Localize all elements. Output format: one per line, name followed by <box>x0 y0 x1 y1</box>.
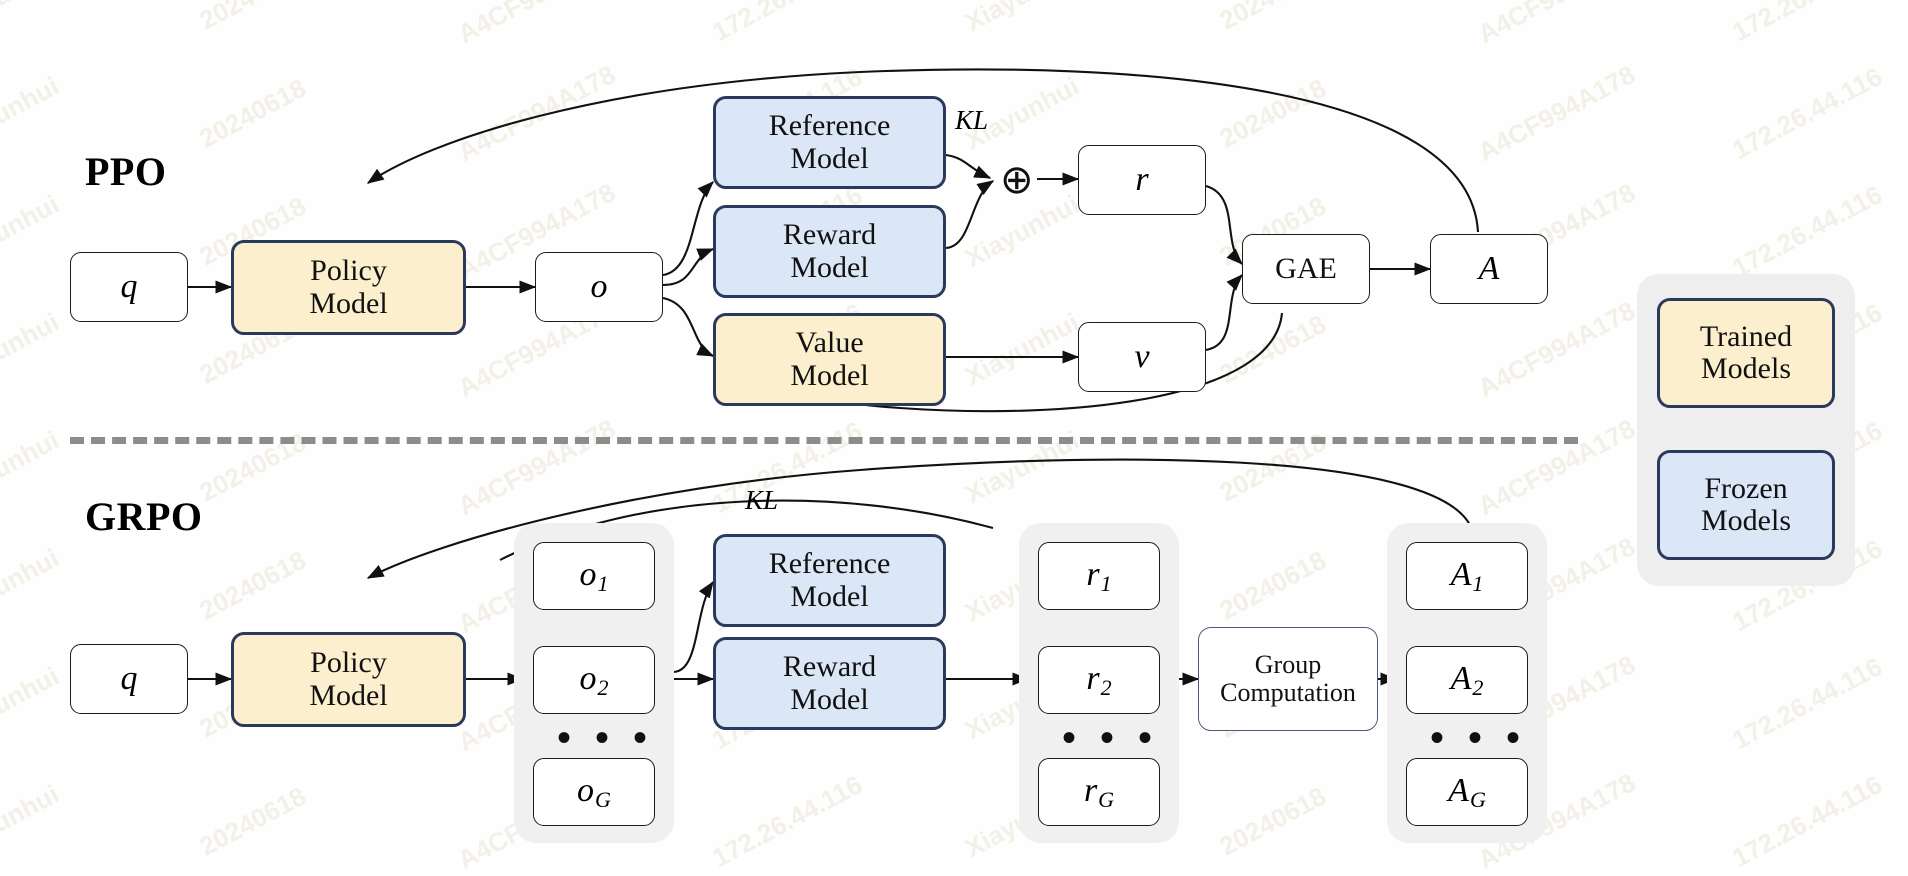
grpo-query-box[interactable]: q <box>70 644 188 714</box>
ppo-reference-model-line1: Reference <box>769 110 891 142</box>
grpo-reference-model-box[interactable]: Reference Model <box>713 534 946 627</box>
grpo-outputs-ellipsis: • • • <box>557 718 654 758</box>
legend-trained-line2: Models <box>1701 353 1791 385</box>
ppo-value-model-line2: Model <box>790 360 868 392</box>
ppo-reward-model-box[interactable]: Reward Model <box>713 205 946 298</box>
grpo-advantage-box-g[interactable]: AG <box>1406 758 1528 826</box>
grpo-reward-box-1[interactable]: r1 <box>1038 542 1160 610</box>
grpo-policy-model-line2: Model <box>309 680 387 712</box>
ppo-gae-label: GAE <box>1275 253 1337 285</box>
ppo-output-label: o <box>591 269 608 306</box>
section-title-ppo: PPO <box>85 148 166 195</box>
grpo-group-computation-line2: Computation <box>1220 679 1356 707</box>
section-divider <box>70 437 1578 444</box>
grpo-advantages-ellipsis: • • • <box>1430 718 1527 758</box>
grpo-reference-model-line1: Reference <box>769 548 891 580</box>
ppo-policy-model-line1: Policy <box>310 255 387 287</box>
grpo-advantage-box-2[interactable]: A2 <box>1406 646 1528 714</box>
ppo-advantage-label: A <box>1479 251 1500 288</box>
grpo-advantage-label-g: AG <box>1448 773 1486 812</box>
grpo-group-computation-line1: Group <box>1255 651 1321 679</box>
legend-frozen-models-swatch: Frozen Models <box>1657 450 1835 560</box>
ppo-reward-value-box[interactable]: r <box>1078 145 1206 215</box>
grpo-reference-model-line2: Model <box>790 581 868 613</box>
grpo-rewards-ellipsis: • • • <box>1062 718 1159 758</box>
grpo-reward-label-g: rG <box>1084 773 1114 812</box>
arrow-ppo-o-to-reward <box>663 249 713 285</box>
ppo-value-var-label: v <box>1134 339 1149 376</box>
ppo-policy-model-box[interactable]: Policy Model <box>231 240 466 335</box>
grpo-policy-model-line1: Policy <box>310 647 387 679</box>
arrow-ppo-o-to-value <box>663 298 713 356</box>
grpo-output-label-g: oG <box>577 773 611 812</box>
ppo-advantage-box[interactable]: A <box>1430 234 1548 304</box>
grpo-reward-box-g[interactable]: rG <box>1038 758 1160 826</box>
grpo-output-box-1[interactable]: o1 <box>533 542 655 610</box>
grpo-reward-model-line1: Reward <box>783 651 876 683</box>
grpo-reward-label-1: r1 <box>1086 557 1111 596</box>
grpo-kl-label: KL <box>745 485 778 516</box>
grpo-advantage-label-1: A1 <box>1451 557 1484 596</box>
diagram-canvas: Xiayunhui20240618A4CF994A178172.26.44.11… <box>0 0 1908 854</box>
ppo-reward-model-line1: Reward <box>783 219 876 251</box>
grpo-advantage-label-2: A2 <box>1451 661 1484 700</box>
grpo-reward-label-2: r2 <box>1086 661 1111 700</box>
ppo-value-model-line1: Value <box>795 327 863 359</box>
arrow-ppo-reward-to-plus <box>946 181 993 248</box>
grpo-reward-box-2[interactable]: r2 <box>1038 646 1160 714</box>
grpo-query-label: q <box>121 661 138 698</box>
grpo-advantage-box-1[interactable]: A1 <box>1406 542 1528 610</box>
ppo-output-box[interactable]: o <box>535 252 663 322</box>
grpo-group-computation-box[interactable]: Group Computation <box>1198 627 1378 731</box>
arrow-grpo-o-to-reference <box>673 582 713 672</box>
ppo-kl-label: KL <box>955 105 988 136</box>
ppo-value-value-box[interactable]: v <box>1078 322 1206 392</box>
ppo-query-box[interactable]: q <box>70 252 188 322</box>
grpo-output-box-g[interactable]: oG <box>533 758 655 826</box>
arrow-ppo-v-to-gae <box>1206 275 1242 350</box>
ppo-reference-model-box[interactable]: Reference Model <box>713 96 946 189</box>
ppo-gae-box[interactable]: GAE <box>1242 234 1370 304</box>
grpo-output-box-2[interactable]: o2 <box>533 646 655 714</box>
ppo-value-model-box[interactable]: Value Model <box>713 313 946 406</box>
ppo-query-label: q <box>121 269 138 306</box>
ppo-plus-operator: ⊕ <box>1000 160 1034 200</box>
ppo-reward-model-line2: Model <box>790 252 868 284</box>
ppo-policy-model-line2: Model <box>309 288 387 320</box>
legend-trained-models-swatch: Trained Models <box>1657 298 1835 408</box>
arrow-ppo-reference-kl-to-plus <box>946 155 990 178</box>
grpo-output-label-1: o1 <box>580 557 609 596</box>
grpo-policy-model-box[interactable]: Policy Model <box>231 632 466 727</box>
grpo-output-label-2: o2 <box>580 661 609 700</box>
legend-trained-line1: Trained <box>1700 321 1792 353</box>
legend-frozen-line1: Frozen <box>1704 473 1787 505</box>
arrow-ppo-o-to-reference <box>663 182 713 275</box>
section-title-grpo: GRPO <box>85 493 203 540</box>
arrow-ppo-r-to-gae <box>1206 186 1242 264</box>
grpo-reward-model-line2: Model <box>790 684 868 716</box>
grpo-reward-model-box[interactable]: Reward Model <box>713 637 946 730</box>
legend-frozen-line2: Models <box>1701 505 1791 537</box>
ppo-reference-model-line2: Model <box>790 143 868 175</box>
ppo-reward-var-label: r <box>1135 162 1148 199</box>
